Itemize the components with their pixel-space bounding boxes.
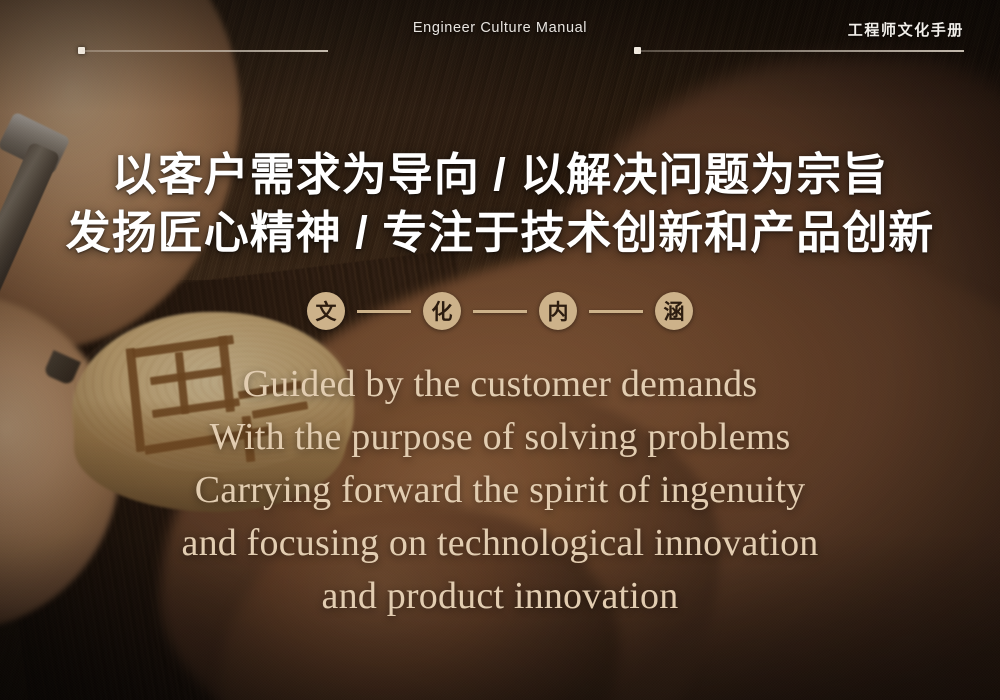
divider-line-3	[589, 310, 643, 313]
divider-line-2	[473, 310, 527, 313]
english-line-4: and focusing on technological innovation	[0, 517, 1000, 570]
divider-circle-han: 涵	[655, 292, 693, 330]
header-title-chinese: 工程师文化手册	[848, 19, 964, 40]
english-line-1: Guided by the customer demands	[0, 358, 1000, 411]
slide-root: Engineer Culture Manual 工程师文化手册 以客户需求为导向…	[0, 0, 1000, 700]
english-statement: Guided by the customer demands With the …	[0, 358, 1000, 623]
divider-circle-hua: 化	[423, 292, 461, 330]
slide-content: Engineer Culture Manual 工程师文化手册 以客户需求为导向…	[0, 0, 1000, 700]
english-line-3: Carrying forward the spirit of ingenuity	[0, 464, 1000, 517]
header-rule-right	[638, 50, 964, 52]
headline-line-2: 发扬匠心精神 / 专注于技术创新和产品创新	[0, 204, 1000, 262]
header-rule-left	[82, 50, 328, 52]
culture-divider: 文 化 内 涵	[0, 292, 1000, 330]
page-header: Engineer Culture Manual 工程师文化手册	[0, 0, 1000, 62]
headline-line-1: 以客户需求为导向 / 以解决问题为宗旨	[0, 146, 1000, 204]
english-line-5: and product innovation	[0, 570, 1000, 623]
divider-line-1	[357, 310, 411, 313]
divider-circle-nei: 内	[539, 292, 577, 330]
english-line-2: With the purpose of solving problems	[0, 411, 1000, 464]
divider-circle-wen: 文	[307, 292, 345, 330]
headline-chinese: 以客户需求为导向 / 以解决问题为宗旨 发扬匠心精神 / 专注于技术创新和产品创…	[0, 146, 1000, 262]
